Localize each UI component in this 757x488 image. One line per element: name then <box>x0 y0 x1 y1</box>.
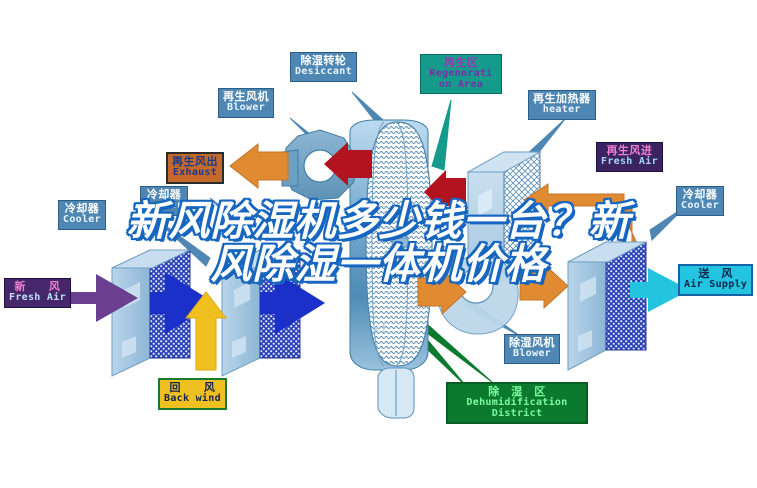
label-cooler-left-front: 冷却器 Cooler <box>58 200 106 230</box>
cooler-block-3 <box>568 242 646 370</box>
label-air-supply-en: Air Supply <box>684 280 747 291</box>
label-cooler-left-back: 冷却器 Cooler <box>140 186 188 216</box>
label-regeneration-heater: 再生加热器 heater <box>528 90 596 120</box>
diagram-artwork <box>0 0 757 488</box>
arrow-regeneration-exhaust <box>230 144 288 188</box>
label-fresh-air-inlet: 新 风 Fresh Air <box>4 278 71 308</box>
label-regeneration-fresh-air-en: Fresh Air <box>601 157 658 168</box>
label-cooler-right-en: Cooler <box>681 201 719 212</box>
label-cooler-left-back-en: Cooler <box>145 201 183 212</box>
label-cooler-left-front-en: Cooler <box>63 215 101 226</box>
label-regeneration-blower: 再生风机 Blower <box>218 88 274 118</box>
label-air-supply: 送 风 Air Supply <box>678 264 753 296</box>
label-fresh-air-inlet-en: Fresh Air <box>9 293 66 304</box>
label-back-wind: 回 风 Back wind <box>158 378 227 410</box>
label-dehumidification-district: 除 湿 区 Dehumidification District <box>446 382 588 424</box>
label-regeneration-area-en: Regenerati on Area <box>425 69 497 91</box>
label-dehumidification-blower-en: Blower <box>509 349 555 360</box>
label-desiccant-wheel-en: Desiccant <box>295 67 352 78</box>
label-regeneration-blower-en: Blower <box>223 103 269 114</box>
watermark: xf <box>372 322 388 337</box>
label-regeneration-exhaust-en: Exhaust <box>172 168 218 179</box>
label-regeneration-area: 再生区 Regenerati on Area <box>420 54 502 94</box>
leader-line-regeneration-area <box>432 100 451 170</box>
label-dehumidification-blower: 除湿风机 Blower <box>504 334 560 364</box>
label-regeneration-fresh-air: 再生风进 Fresh Air <box>596 142 663 172</box>
label-dehumidification-district-en: Dehumidification District <box>452 398 582 420</box>
label-back-wind-en: Back wind <box>164 394 221 405</box>
label-regeneration-heater-en: heater <box>533 105 591 116</box>
label-cooler-right: 冷却器 Cooler <box>676 186 724 216</box>
label-desiccant-wheel: 除湿转轮 Desiccant <box>290 52 357 82</box>
diagram-canvas: 除湿转轮 Desiccant 再生风机 Blower 再生区 Regenerat… <box>0 0 757 488</box>
arrow-regeneration-fresh-air <box>524 184 640 250</box>
label-regeneration-exhaust: 再生风出 Exhaust <box>166 152 224 184</box>
